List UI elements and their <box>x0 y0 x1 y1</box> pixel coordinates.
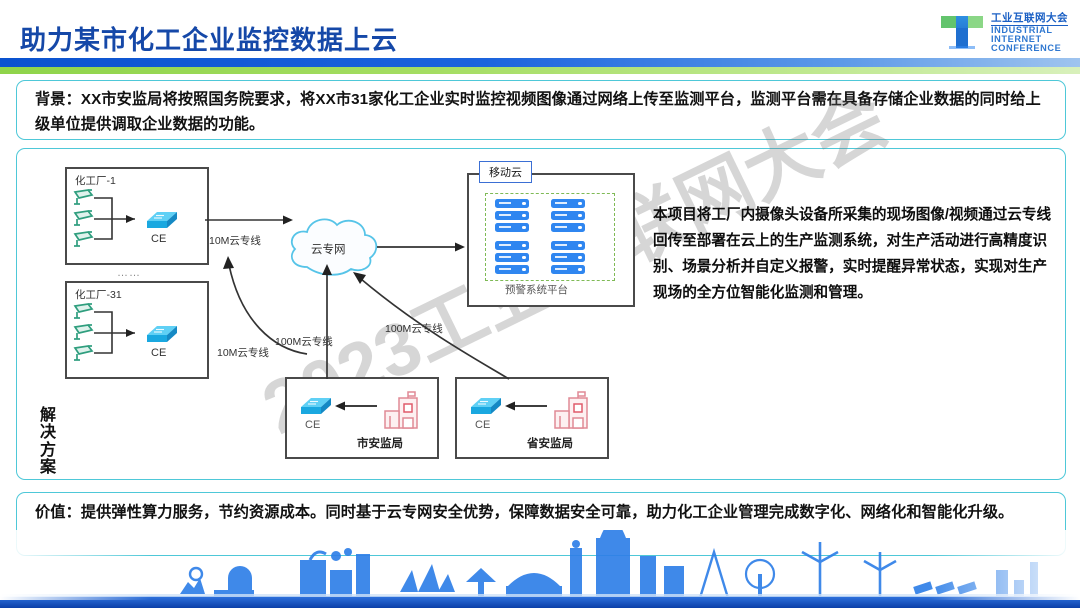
conference-logo: 工业互联网大会 INDUSTRIAL INTERNET CONFERENCE <box>939 10 1068 54</box>
bureau-label-city: 市安监局 <box>357 435 403 451</box>
server-icon <box>551 199 585 208</box>
logo-text: 工业互联网大会 INDUSTRIAL INTERNET CONFERENCE <box>991 10 1068 54</box>
bureau-label-province: 省安监局 <box>527 435 573 451</box>
background-panel: 背景：XX市安监局将按照国务院要求，将XX市31家化工企业实时监控视频图像通过网… <box>16 80 1066 140</box>
platform-tag: 移动云 <box>479 161 532 183</box>
solution-diagram-panel: 2023工业互联网大会 解决方案 化工厂-1 <box>16 148 1066 480</box>
link-label-100m-city: 100M云专线 <box>275 334 333 349</box>
switch-label: CE <box>475 419 490 431</box>
switch-icon <box>141 321 175 343</box>
header-rule-green <box>0 67 1080 74</box>
header-rule-blue <box>0 58 1080 67</box>
server-icon <box>551 223 585 232</box>
camera-icon <box>71 208 97 228</box>
solution-description: 本项目将工厂内摄像头设备所采集的现场图像/视频通过云专线回传至部署在云上的生产监… <box>653 203 1057 307</box>
switch-icon <box>141 207 175 229</box>
government-building-icon <box>379 387 421 427</box>
slide-root: 助力某市化工企业监控数据上云 <box>0 0 1080 608</box>
switch-icon <box>295 393 329 415</box>
camera-icon <box>71 301 97 321</box>
camera-icon <box>71 322 97 342</box>
switch-label: CE <box>151 233 166 245</box>
server-icon <box>495 241 529 250</box>
bureau-province-uplink <box>333 253 523 383</box>
server-icon <box>495 199 529 208</box>
solution-side-label: 解决方案 <box>35 407 61 476</box>
value-panel: 价值：提供弹性算力服务，节约资源成本。同时基于云专网安全优势，保障数据安全可靠，… <box>16 492 1066 556</box>
server-icon <box>551 253 585 262</box>
bureau-city-arrow <box>333 397 379 417</box>
link-label-100m-province: 100M云专线 <box>385 321 443 336</box>
switch-label: CE <box>151 347 166 359</box>
page-title: 助力某市化工企业监控数据上云 <box>20 20 398 57</box>
value-text: 价值：提供弹性算力服务，节约资源成本。同时基于云专网安全优势，保障数据安全可靠，… <box>35 501 1051 526</box>
camera-icon <box>71 343 97 363</box>
server-icon <box>551 211 585 220</box>
camera-icon <box>71 229 97 249</box>
server-icon <box>551 241 585 250</box>
server-icon <box>495 211 529 220</box>
logo-en-line3: CONFERENCE <box>991 44 1068 53</box>
server-icon <box>551 265 585 274</box>
background-text: 背景：XX市安监局将按照国务院要求，将XX市31家化工企业实时监控视频图像通过网… <box>35 88 1051 137</box>
government-building-icon <box>549 387 591 427</box>
logo-cn-text: 工业互联网大会 <box>991 13 1068 26</box>
camera-icon <box>71 187 97 207</box>
server-icon <box>495 223 529 232</box>
bureau-province-arrow <box>503 397 549 417</box>
switch-icon <box>465 393 499 415</box>
switch-label: CE <box>305 419 320 431</box>
factory-ellipsis: …… <box>117 267 141 279</box>
logo-t-mark-icon <box>939 10 985 54</box>
